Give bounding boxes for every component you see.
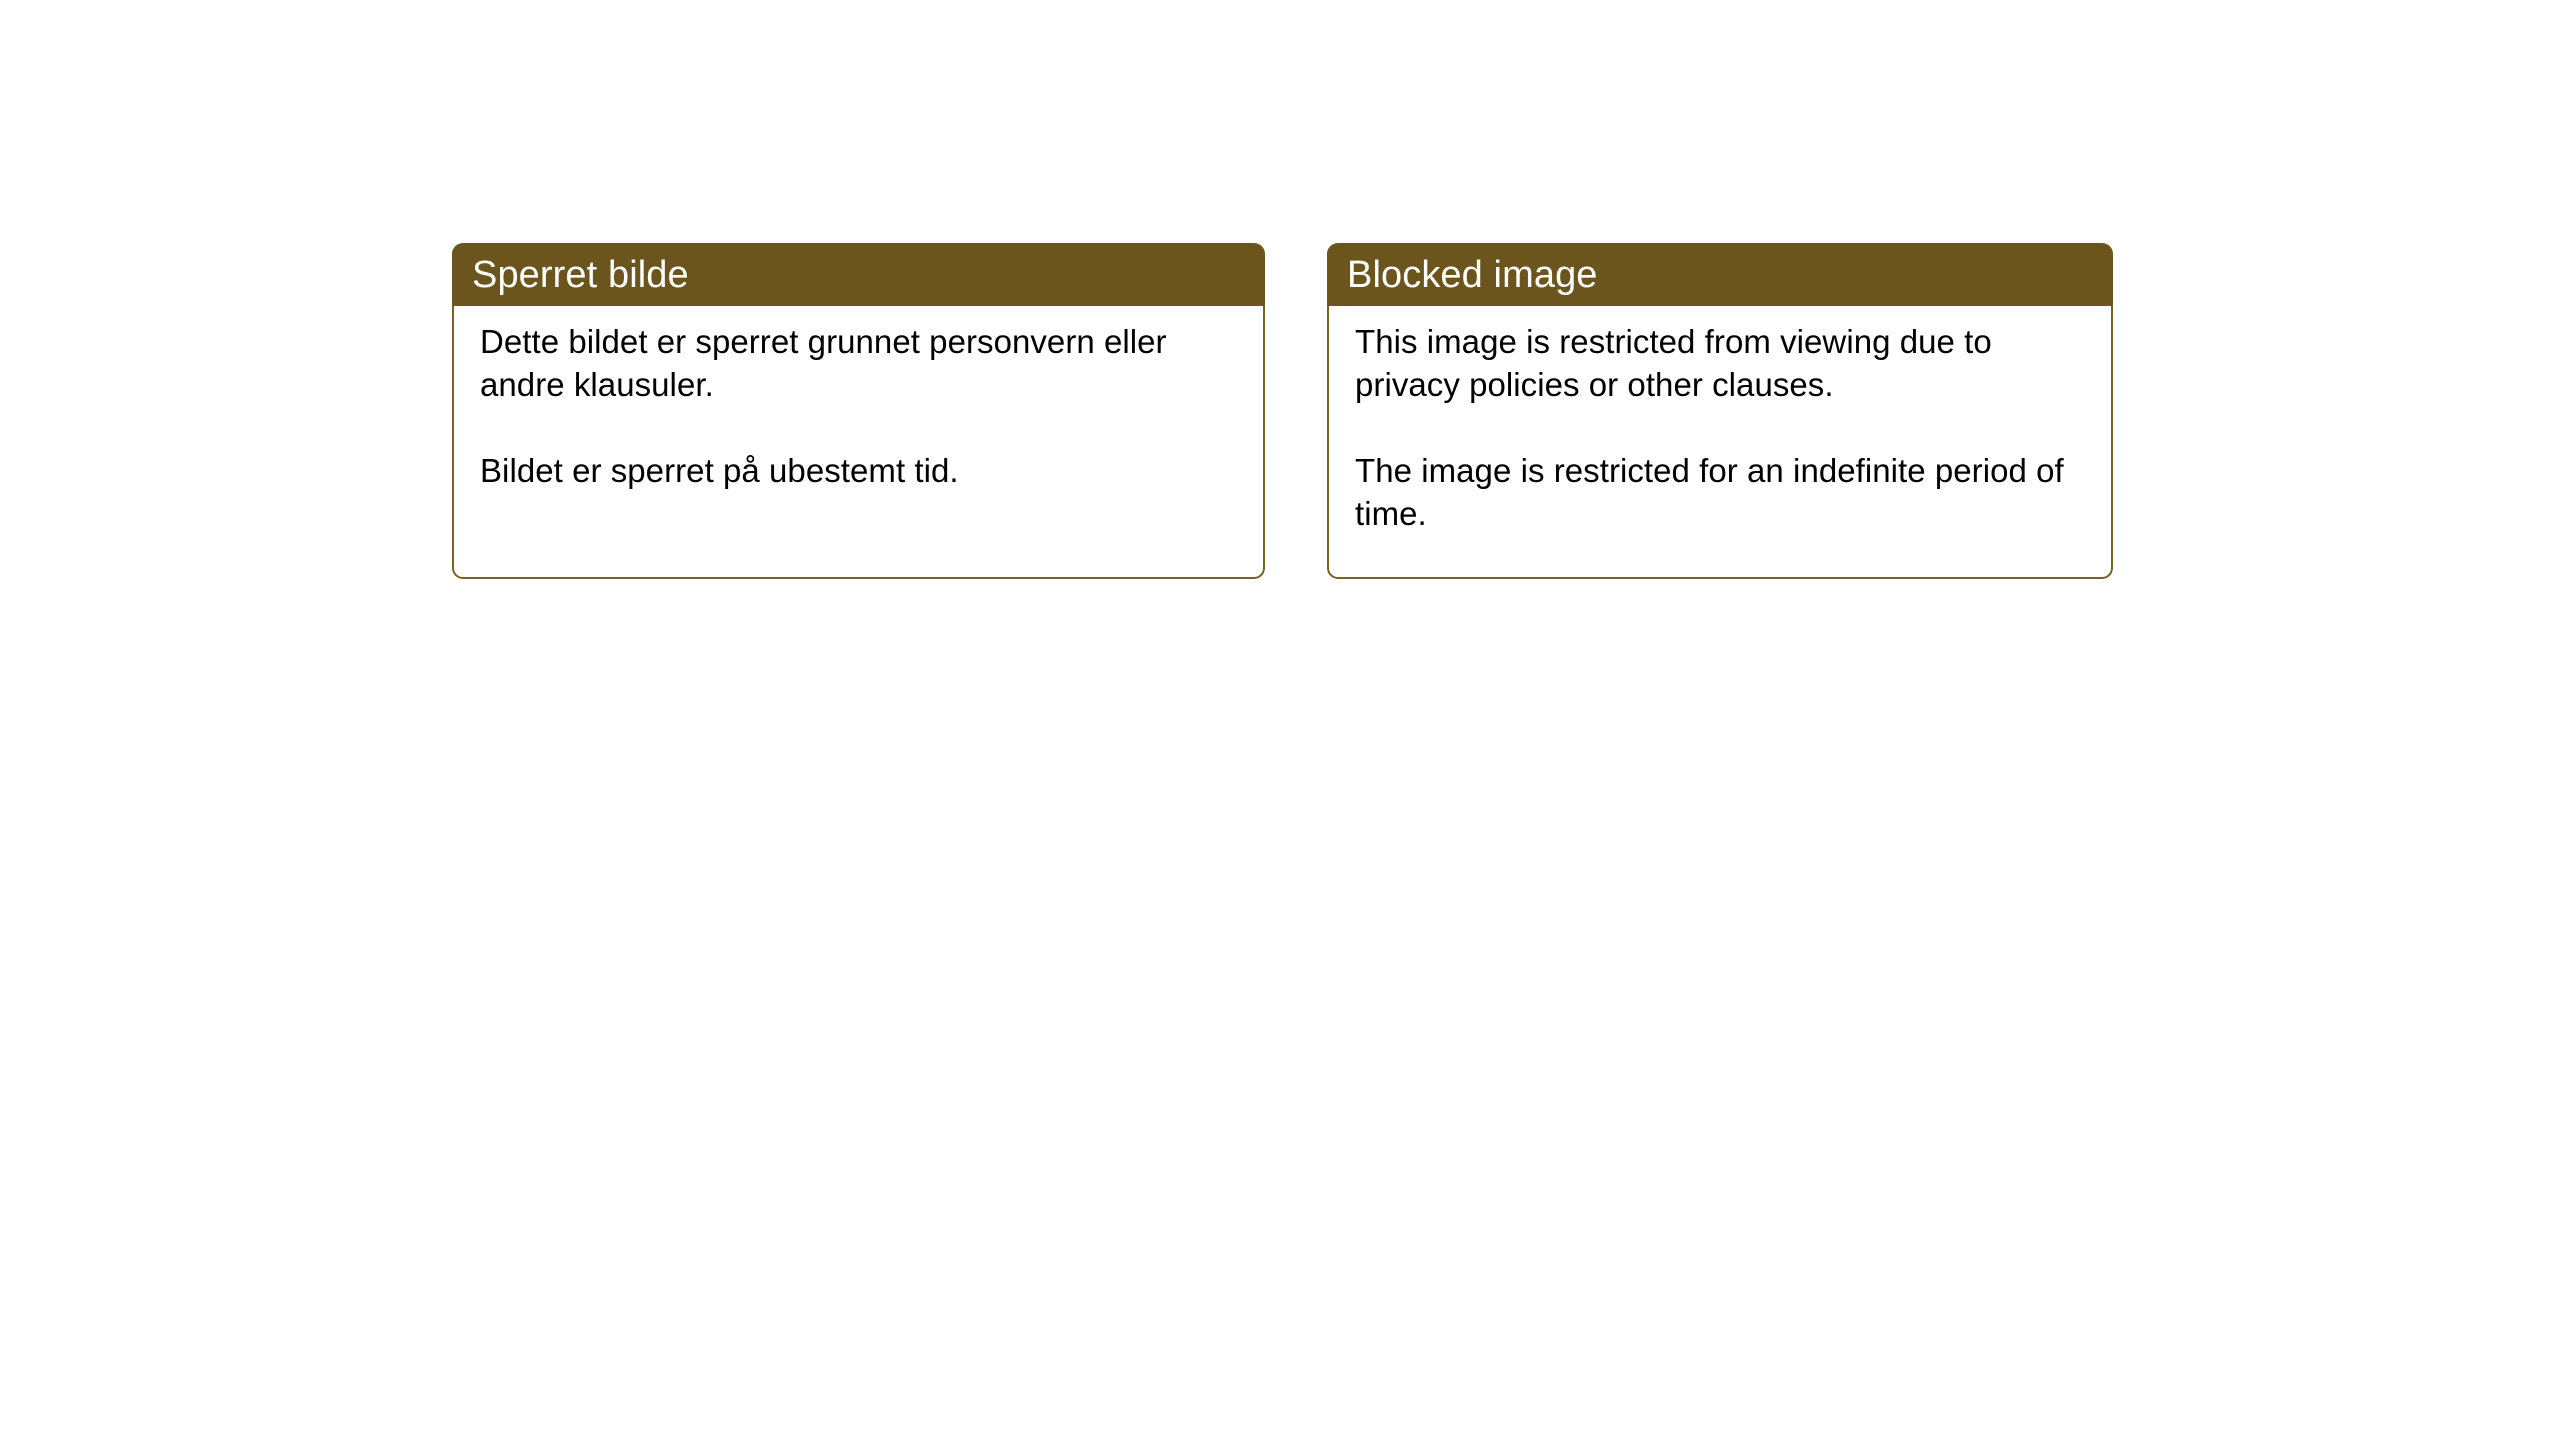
page-canvas: Sperret bilde Dette bildet er sperret gr…	[0, 0, 2560, 1440]
card-body-english: This image is restricted from viewing du…	[1327, 306, 2113, 579]
card-paragraph-primary-norwegian: Dette bildet er sperret grunnet personve…	[480, 320, 1237, 406]
card-header-norwegian: Sperret bilde	[452, 243, 1265, 306]
card-body-norwegian: Dette bildet er sperret grunnet personve…	[452, 306, 1265, 579]
card-paragraph-primary-english: This image is restricted from viewing du…	[1355, 320, 2085, 406]
card-paragraph-secondary-norwegian: Bildet er sperret på ubestemt tid.	[480, 449, 1237, 492]
card-title-norwegian: Sperret bilde	[472, 253, 689, 297]
blocked-image-notice-norwegian: Sperret bilde Dette bildet er sperret gr…	[452, 243, 1265, 579]
card-title-english: Blocked image	[1347, 253, 1598, 297]
blocked-image-notice-english: Blocked image This image is restricted f…	[1327, 243, 2113, 579]
card-paragraph-secondary-english: The image is restricted for an indefinit…	[1355, 449, 2085, 535]
card-header-english: Blocked image	[1327, 243, 2113, 306]
